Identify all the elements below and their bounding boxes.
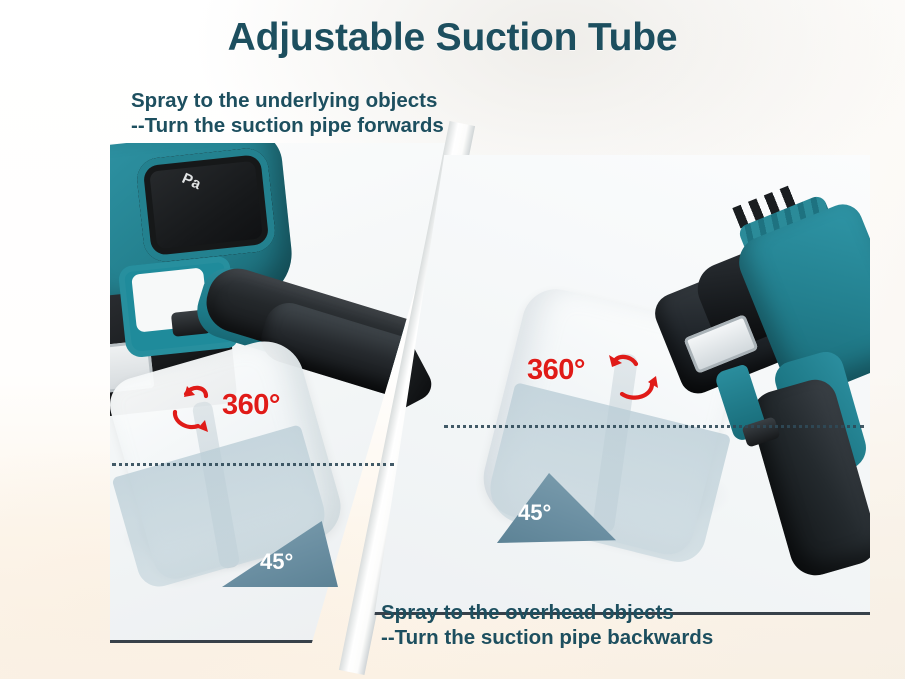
caption-top-line1: Spray to the underlying objects [131,89,437,112]
rotation-arrows-left-icon [165,382,227,445]
motor-housing-inner [135,146,277,263]
reference-line-right [444,425,864,428]
caption-top: Spray to the underlying objects --Turn t… [131,88,444,138]
rotation-arrows-right-icon [600,352,666,415]
reference-line-left [112,463,394,466]
page-title: Adjustable Suction Tube [0,16,905,60]
caption-bottom: Spray to the overhead objects --Turn the… [381,600,713,650]
caption-top-line2: --Turn the suction pipe forwards [131,113,444,138]
caption-bottom-line1: Spray to the overhead objects [381,601,674,624]
rotation-label-right: 360° [527,354,585,387]
caption-bottom-line2: --Turn the suction pipe backwards [381,625,713,650]
rotation-label-left: 360° [222,389,280,422]
product-infographic: Adjustable Suction Tube Pa [0,0,905,679]
